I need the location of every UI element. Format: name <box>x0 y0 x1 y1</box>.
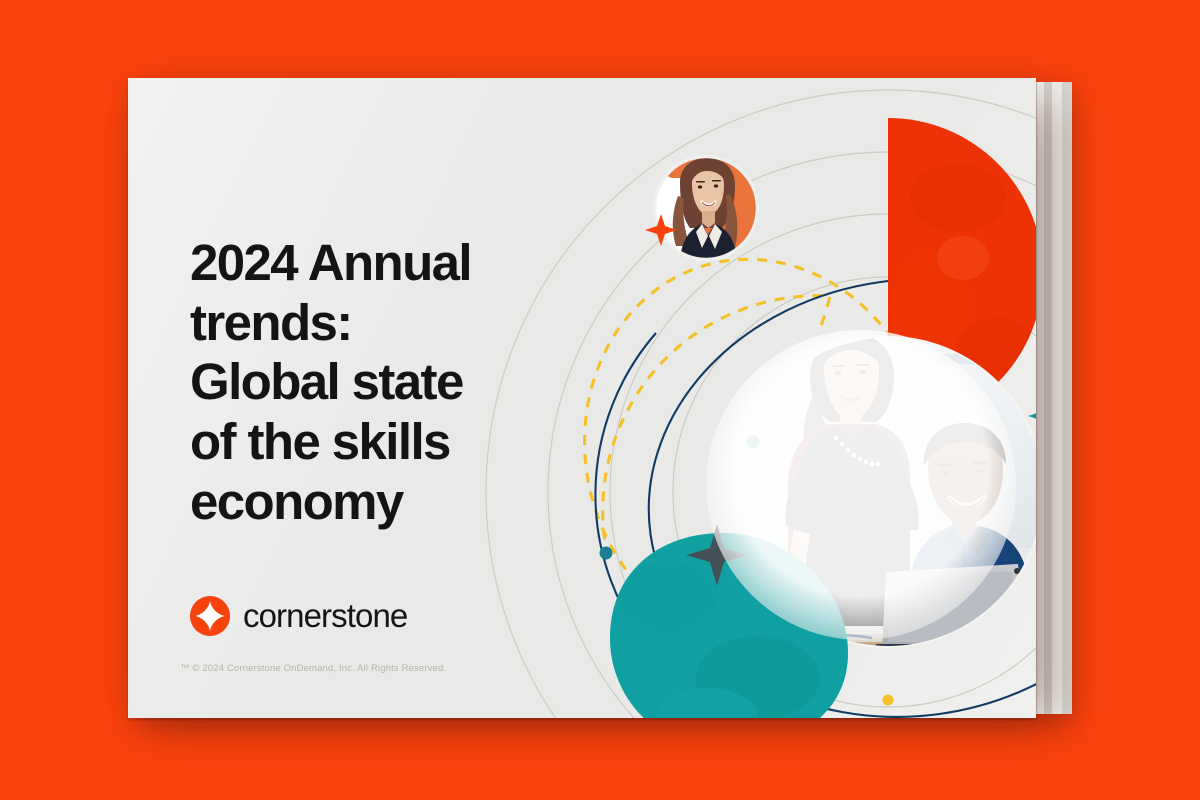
ebook-cover-page: 2024 Annual trends: Global state of the … <box>128 78 1036 718</box>
title-line-3: Global state <box>190 353 463 410</box>
avatar-portrait-bubble <box>653 155 759 261</box>
title-line-4: of the skills <box>190 413 450 470</box>
photo-halo <box>706 330 1016 640</box>
brand-wordmark: cornerstone <box>243 597 407 635</box>
title-line-2: trends: <box>190 294 352 351</box>
title-line-5: economy <box>190 473 403 530</box>
cornerstone-star-icon <box>190 596 230 636</box>
teal-dot-left <box>600 547 613 560</box>
title-line-1: 2024 Annual <box>190 234 471 291</box>
screenshot-canvas: 2024 Annual trends: Global state of the … <box>0 0 1200 800</box>
yellow-dot-lower <box>883 695 894 706</box>
copyright-notice: ™ © 2024 Cornerstone OnDemand, Inc. All … <box>180 663 446 674</box>
brand-lockup: cornerstone <box>190 596 407 636</box>
page-title: 2024 Annual trends: Global state of the … <box>190 233 590 531</box>
avatar-subject <box>673 158 737 259</box>
